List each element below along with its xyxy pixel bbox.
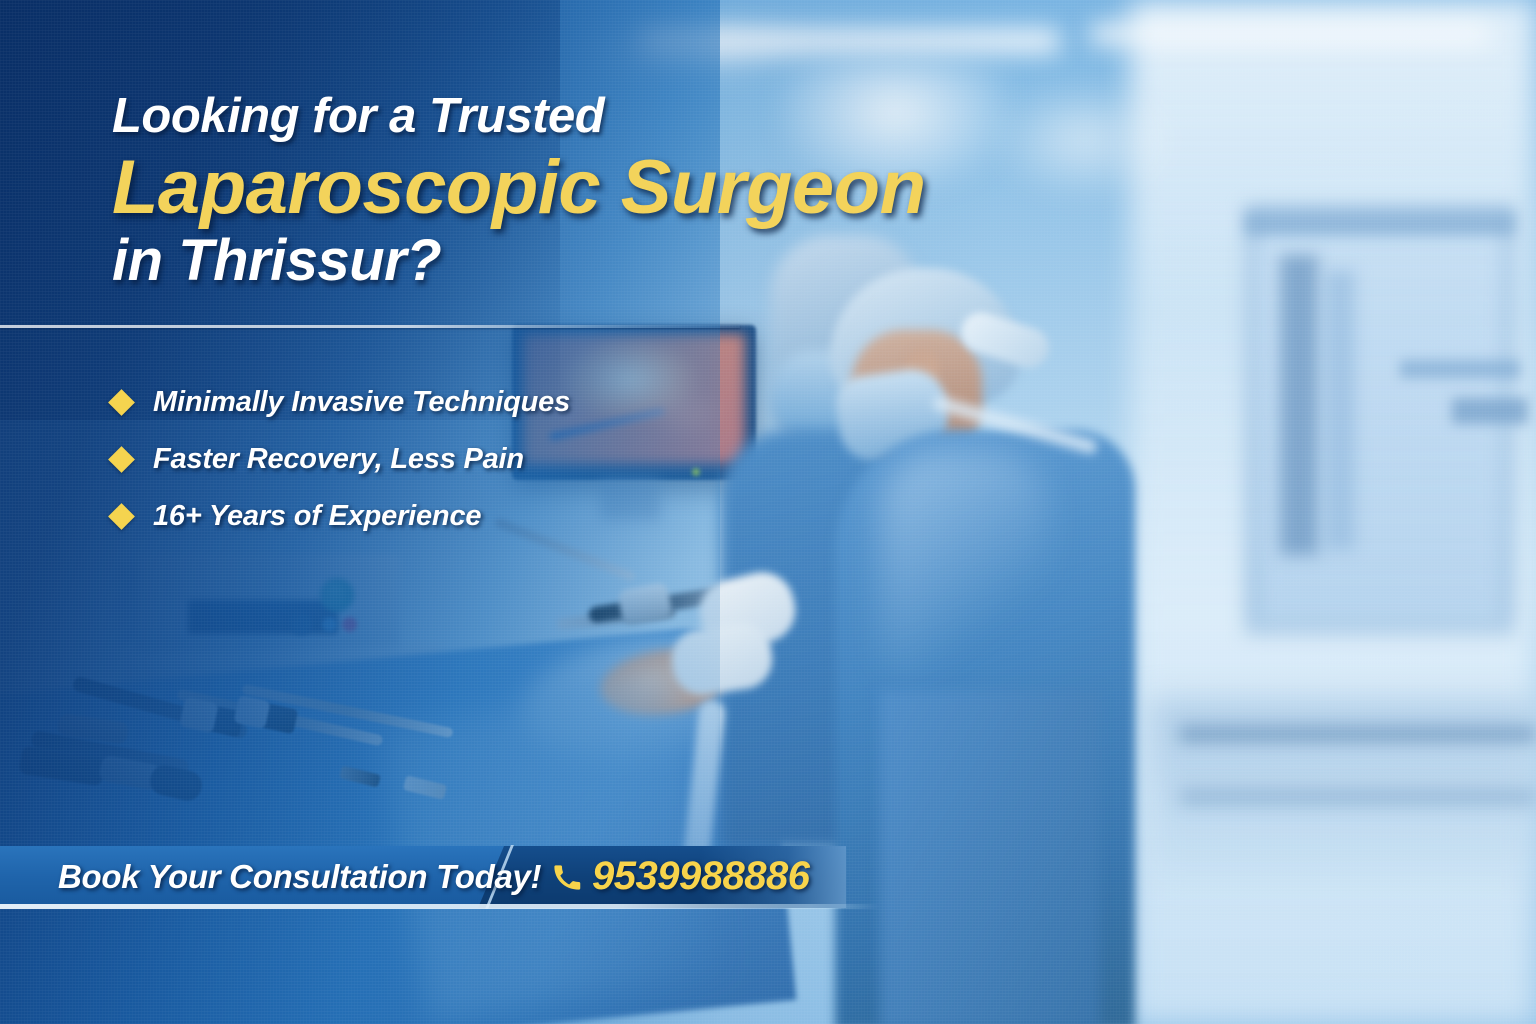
headline-divider: [0, 325, 740, 328]
cta-underline: [0, 904, 880, 909]
phone-handset-icon: [552, 862, 582, 892]
diamond-bullet-icon: [108, 446, 135, 473]
feature-label: Faster Recovery, Less Pain: [153, 443, 524, 476]
banner-content: Looking for a Trusted Laparoscopic Surge…: [0, 0, 1536, 1024]
advertisement-banner: Looking for a Trusted Laparoscopic Surge…: [0, 0, 1536, 1024]
phone-number: 9539988886: [592, 854, 809, 899]
diamond-bullet-icon: [108, 389, 135, 416]
feature-item: Faster Recovery, Less Pain: [112, 431, 570, 488]
cta-label: Book Your Consultation Today!: [58, 858, 541, 896]
headline-line-1: Looking for a Trusted: [112, 92, 1012, 141]
phone-link[interactable]: 9539988886: [552, 854, 809, 899]
headline-line-2-highlight: Laparoscopic Surgeon: [112, 150, 1012, 226]
feature-item: Minimally Invasive Techniques: [112, 374, 570, 431]
feature-label: 16+ Years of Experience: [153, 500, 481, 533]
cta-bar[interactable]: Book Your Consultation Today! 9539988886: [0, 846, 846, 908]
headline-block: Looking for a Trusted Laparoscopic Surge…: [112, 92, 1012, 290]
feature-list: Minimally Invasive Techniques Faster Rec…: [112, 374, 570, 545]
feature-label: Minimally Invasive Techniques: [153, 386, 570, 419]
diamond-bullet-icon: [108, 503, 135, 530]
headline-line-3: in Thrissur?: [112, 232, 1012, 290]
feature-item: 16+ Years of Experience: [112, 488, 570, 545]
